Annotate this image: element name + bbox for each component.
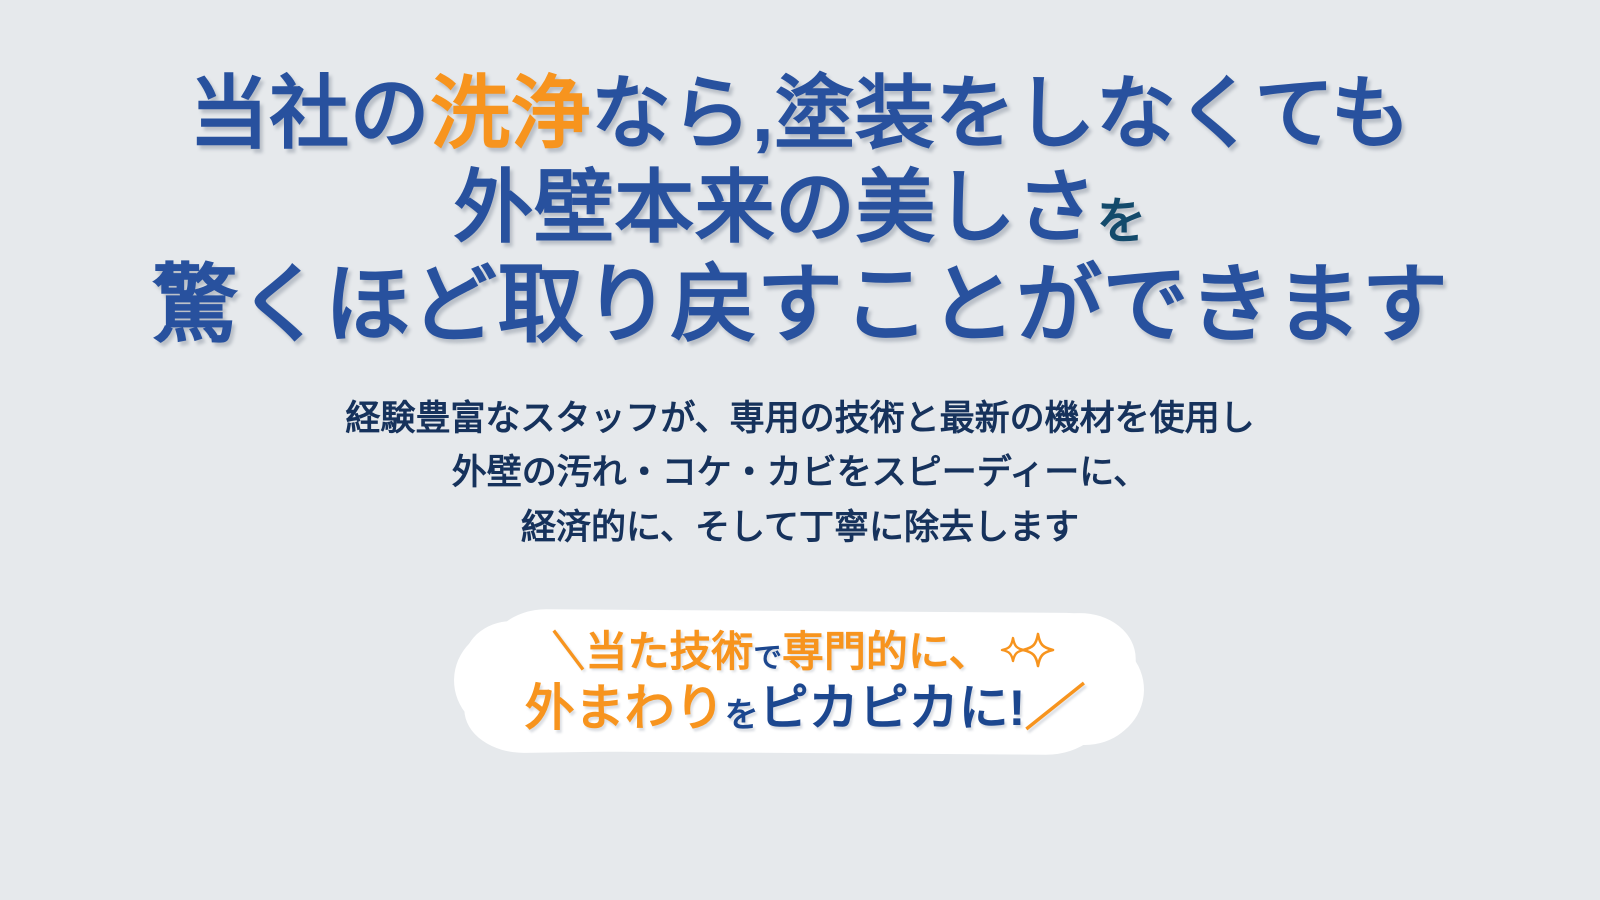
headline-l1-seg-3-highlight: 洗浄 (430, 69, 591, 158)
headline-l1-seg-2: の (350, 69, 430, 158)
headline-line-2: 外壁本来の美しさを (152, 168, 1448, 248)
badge-callout: ＼当た技術で専門的に、 外まわりをピカピカに!／ (450, 607, 1150, 757)
headline-l3-seg-1: 驚くほど取り戻すことができます (152, 257, 1448, 353)
promo-banner: 当社の洗浄なら,塗装をしなくても 外壁本来の美しさを 驚くほど取り戻すことができ… (0, 0, 1600, 900)
headline-block: 当社の洗浄なら,塗装をしなくても 外壁本来の美しさを 驚くほど取り戻すことができ… (152, 74, 1448, 348)
badge-l2-seg-c: ピカピカに! (759, 680, 1026, 736)
sparkle-icon (995, 632, 1057, 677)
badge-trail-slash: ／ (1025, 680, 1075, 736)
body-line-1: 経験豊富なスタッフが、専用の技術と最新の機材を使用し (345, 392, 1254, 446)
badge-line-1: ＼当た技術で専門的に、 (543, 631, 1056, 677)
body-copy-block: 経験豊富なスタッフが、専用の技術と最新の機材を使用し 外壁の汚れ・コケ・カビをス… (345, 392, 1254, 555)
badge-text-block: ＼当た技術で専門的に、 外まわりをピカピカに!／ (450, 607, 1150, 757)
badge-lead-slash: ＼ (543, 628, 585, 675)
headline-line-1: 当社の洗浄なら,塗装をしなくても (152, 74, 1448, 154)
badge-l1-seg-d: に、 (908, 628, 991, 675)
headline-l2-seg-2-particle: を (1097, 193, 1147, 249)
headline-l1-seg-4: なら, (591, 69, 774, 158)
badge-l1-seg-b-particle: で (753, 642, 782, 674)
headline-line-3: 驚くほど取り戻すことができます (152, 262, 1448, 348)
headline-l2-seg-1: 外壁本来の美しさ (453, 163, 1096, 252)
body-line-2: 外壁の汚れ・コケ・カビをスピーディーに、 (345, 446, 1254, 500)
badge-l2-seg-b-particle: を (725, 696, 759, 734)
badge-line-2: 外まわりをピカピカに!／ (525, 683, 1076, 733)
headline-l1-seg-5: 塗装をしなくても (774, 69, 1411, 158)
headline-l1-seg-1: 当社 (189, 69, 350, 158)
badge-l1-seg-a: 当た技術 (585, 628, 753, 675)
body-line-3: 経済的に、そして丁寧に除去します (345, 501, 1254, 555)
badge-l2-seg-a: 外まわり (525, 680, 725, 736)
badge-l1-seg-c: 専門的 (782, 628, 908, 675)
